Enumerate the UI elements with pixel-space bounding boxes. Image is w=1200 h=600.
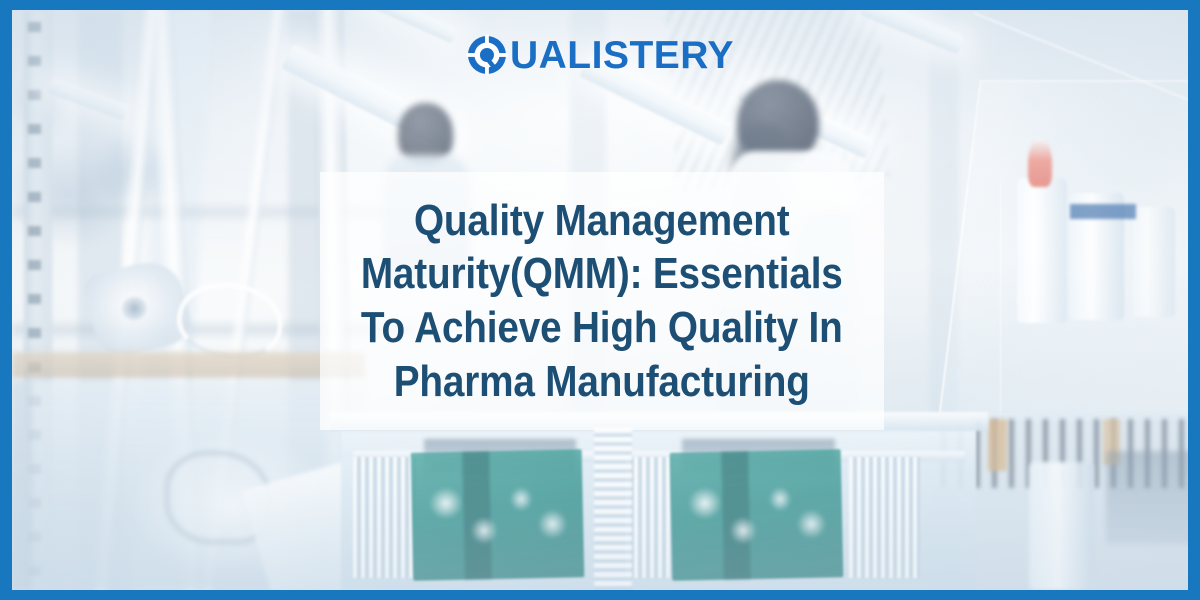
heatsink-fins	[353, 457, 418, 579]
wooden-shelf-edge	[12, 352, 365, 378]
circuit-board	[411, 449, 584, 580]
conveyor-center-rail	[594, 428, 632, 590]
reagent-bottle	[1017, 178, 1066, 323]
reagent-bottle	[1133, 207, 1175, 317]
qualistery-lifebuoy-q-icon	[466, 34, 508, 76]
heatsink-fins	[849, 457, 920, 579]
title-overlay-card: Quality Management Maturity(QMM): Essent…	[320, 172, 884, 430]
page-title: Quality Management Maturity(QMM): Essent…	[354, 194, 850, 409]
logo-wordmark: UALISTERY	[510, 36, 734, 75]
qualistery-logo[interactable]: UALISTERY	[466, 34, 734, 76]
circuit-board-components	[411, 449, 584, 580]
acrylic-edge	[1000, 184, 1002, 428]
canister	[1029, 462, 1094, 590]
circuit-board-components	[669, 449, 842, 580]
bottle-cap-red	[1028, 138, 1052, 187]
equipment-box	[1106, 451, 1188, 544]
banner-frame: UALISTERY Quality Management Maturity(QM…	[0, 0, 1200, 600]
heatsink-fins	[626, 457, 673, 579]
hanging-tool	[988, 419, 1007, 471]
circuit-board	[669, 449, 842, 580]
bottle-label	[1070, 204, 1136, 219]
